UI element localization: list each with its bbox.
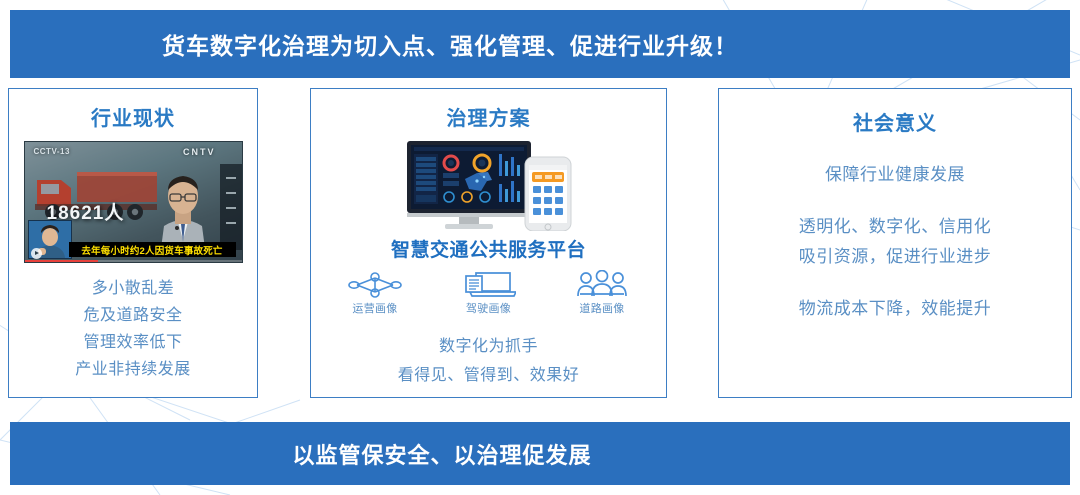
device-mockup xyxy=(389,139,589,231)
capability-driving-label: 驾驶画像 xyxy=(441,300,537,316)
favorite-icon[interactable] xyxy=(226,192,236,194)
cntv-logo: CNTV xyxy=(183,147,216,157)
news-subtitle-text: 去年每小时约2人因货车事故死亡 xyxy=(81,243,222,257)
left-line-3: 管理效率低下 xyxy=(9,329,257,356)
right-line-2: 透明化、数字化、信用化 xyxy=(719,212,1071,242)
network-nodes-icon xyxy=(327,268,423,298)
middle-line-2: 看得见、管得到、效果好 xyxy=(311,361,666,390)
middle-card-lines: 数字化为抓手 看得见、管得到、效果好 xyxy=(311,332,666,390)
left-line-1: 多小散乱差 xyxy=(9,275,257,302)
right-line-4: 物流成本下降，效能提升 xyxy=(719,294,1071,324)
left-line-2: 危及道路安全 xyxy=(9,302,257,329)
slide-canvas: 货车数字化治理为切入点、强化管理、促进行业升级！ 行业现状 xyxy=(0,0,1080,495)
card-right-title: 社会意义 xyxy=(719,107,1071,136)
left-card-lines: 多小散乱差 危及道路安全 管理效率低下 产业非持续发展 xyxy=(9,275,257,383)
people-group-icon xyxy=(554,268,650,298)
video-sidebar-controls[interactable] xyxy=(220,164,242,250)
play-icon[interactable] xyxy=(31,248,42,259)
card-left-title: 行业现状 xyxy=(9,102,257,131)
card-governance-plan: 治理方案 xyxy=(310,88,667,398)
capability-road-label: 道路画像 xyxy=(554,300,650,316)
capability-operation-label: 运营画像 xyxy=(327,300,423,316)
cctv-logo: CCTV-13 xyxy=(34,147,70,156)
right-spacer-2 xyxy=(719,272,1071,294)
middle-line-1: 数字化为抓手 xyxy=(311,332,666,361)
header-banner-text: 货车数字化治理为切入点、强化管理、促进行业升级！ xyxy=(162,27,738,61)
card-industry-status: 行业现状 xyxy=(8,88,258,398)
left-line-4: 产业非持续发展 xyxy=(9,356,257,383)
news-screenshot-image: CCTV-13 CNTV 18621人 去年每小 xyxy=(24,141,243,263)
footer-banner: 以监管保安全、以治理促发展 xyxy=(10,422,1070,485)
right-line-1: 保障行业健康发展 xyxy=(719,160,1071,190)
card-social-significance: 社会意义 保障行业健康发展 透明化、数字化、信用化 吸引资源，促进行业进步 物流… xyxy=(718,88,1072,398)
capability-road: 道路画像 xyxy=(554,268,650,316)
right-spacer-1 xyxy=(719,190,1071,212)
right-card-lines: 保障行业健康发展 透明化、数字化、信用化 吸引资源，促进行业进步 物流成本下降，… xyxy=(719,160,1071,324)
platform-title: 智慧交通公共服务平台 xyxy=(311,235,666,262)
capability-driving: 驾驶画像 xyxy=(441,268,537,316)
share-icon[interactable] xyxy=(226,177,236,179)
capability-icon-row: 运营画像 驾驶画像 xyxy=(311,262,666,316)
video-progress-fill xyxy=(25,260,99,262)
capability-operation: 运营画像 xyxy=(327,268,423,316)
video-progress-bar[interactable] xyxy=(25,260,242,262)
card-middle-title: 治理方案 xyxy=(311,102,666,131)
monitor-and-phone-illustration xyxy=(389,139,589,231)
header-banner: 货车数字化治理为切入点、强化管理、促进行业升级！ xyxy=(10,10,1070,78)
right-line-3: 吸引资源，促进行业进步 xyxy=(719,242,1071,272)
laptop-document-icon xyxy=(441,268,537,298)
footer-banner-text: 以监管保安全、以治理促发展 xyxy=(292,438,591,470)
download-icon[interactable] xyxy=(226,207,236,209)
news-subtitle-bar: 去年每小时约2人因货车事故死亡 xyxy=(69,242,236,257)
more-icon[interactable] xyxy=(226,222,236,224)
